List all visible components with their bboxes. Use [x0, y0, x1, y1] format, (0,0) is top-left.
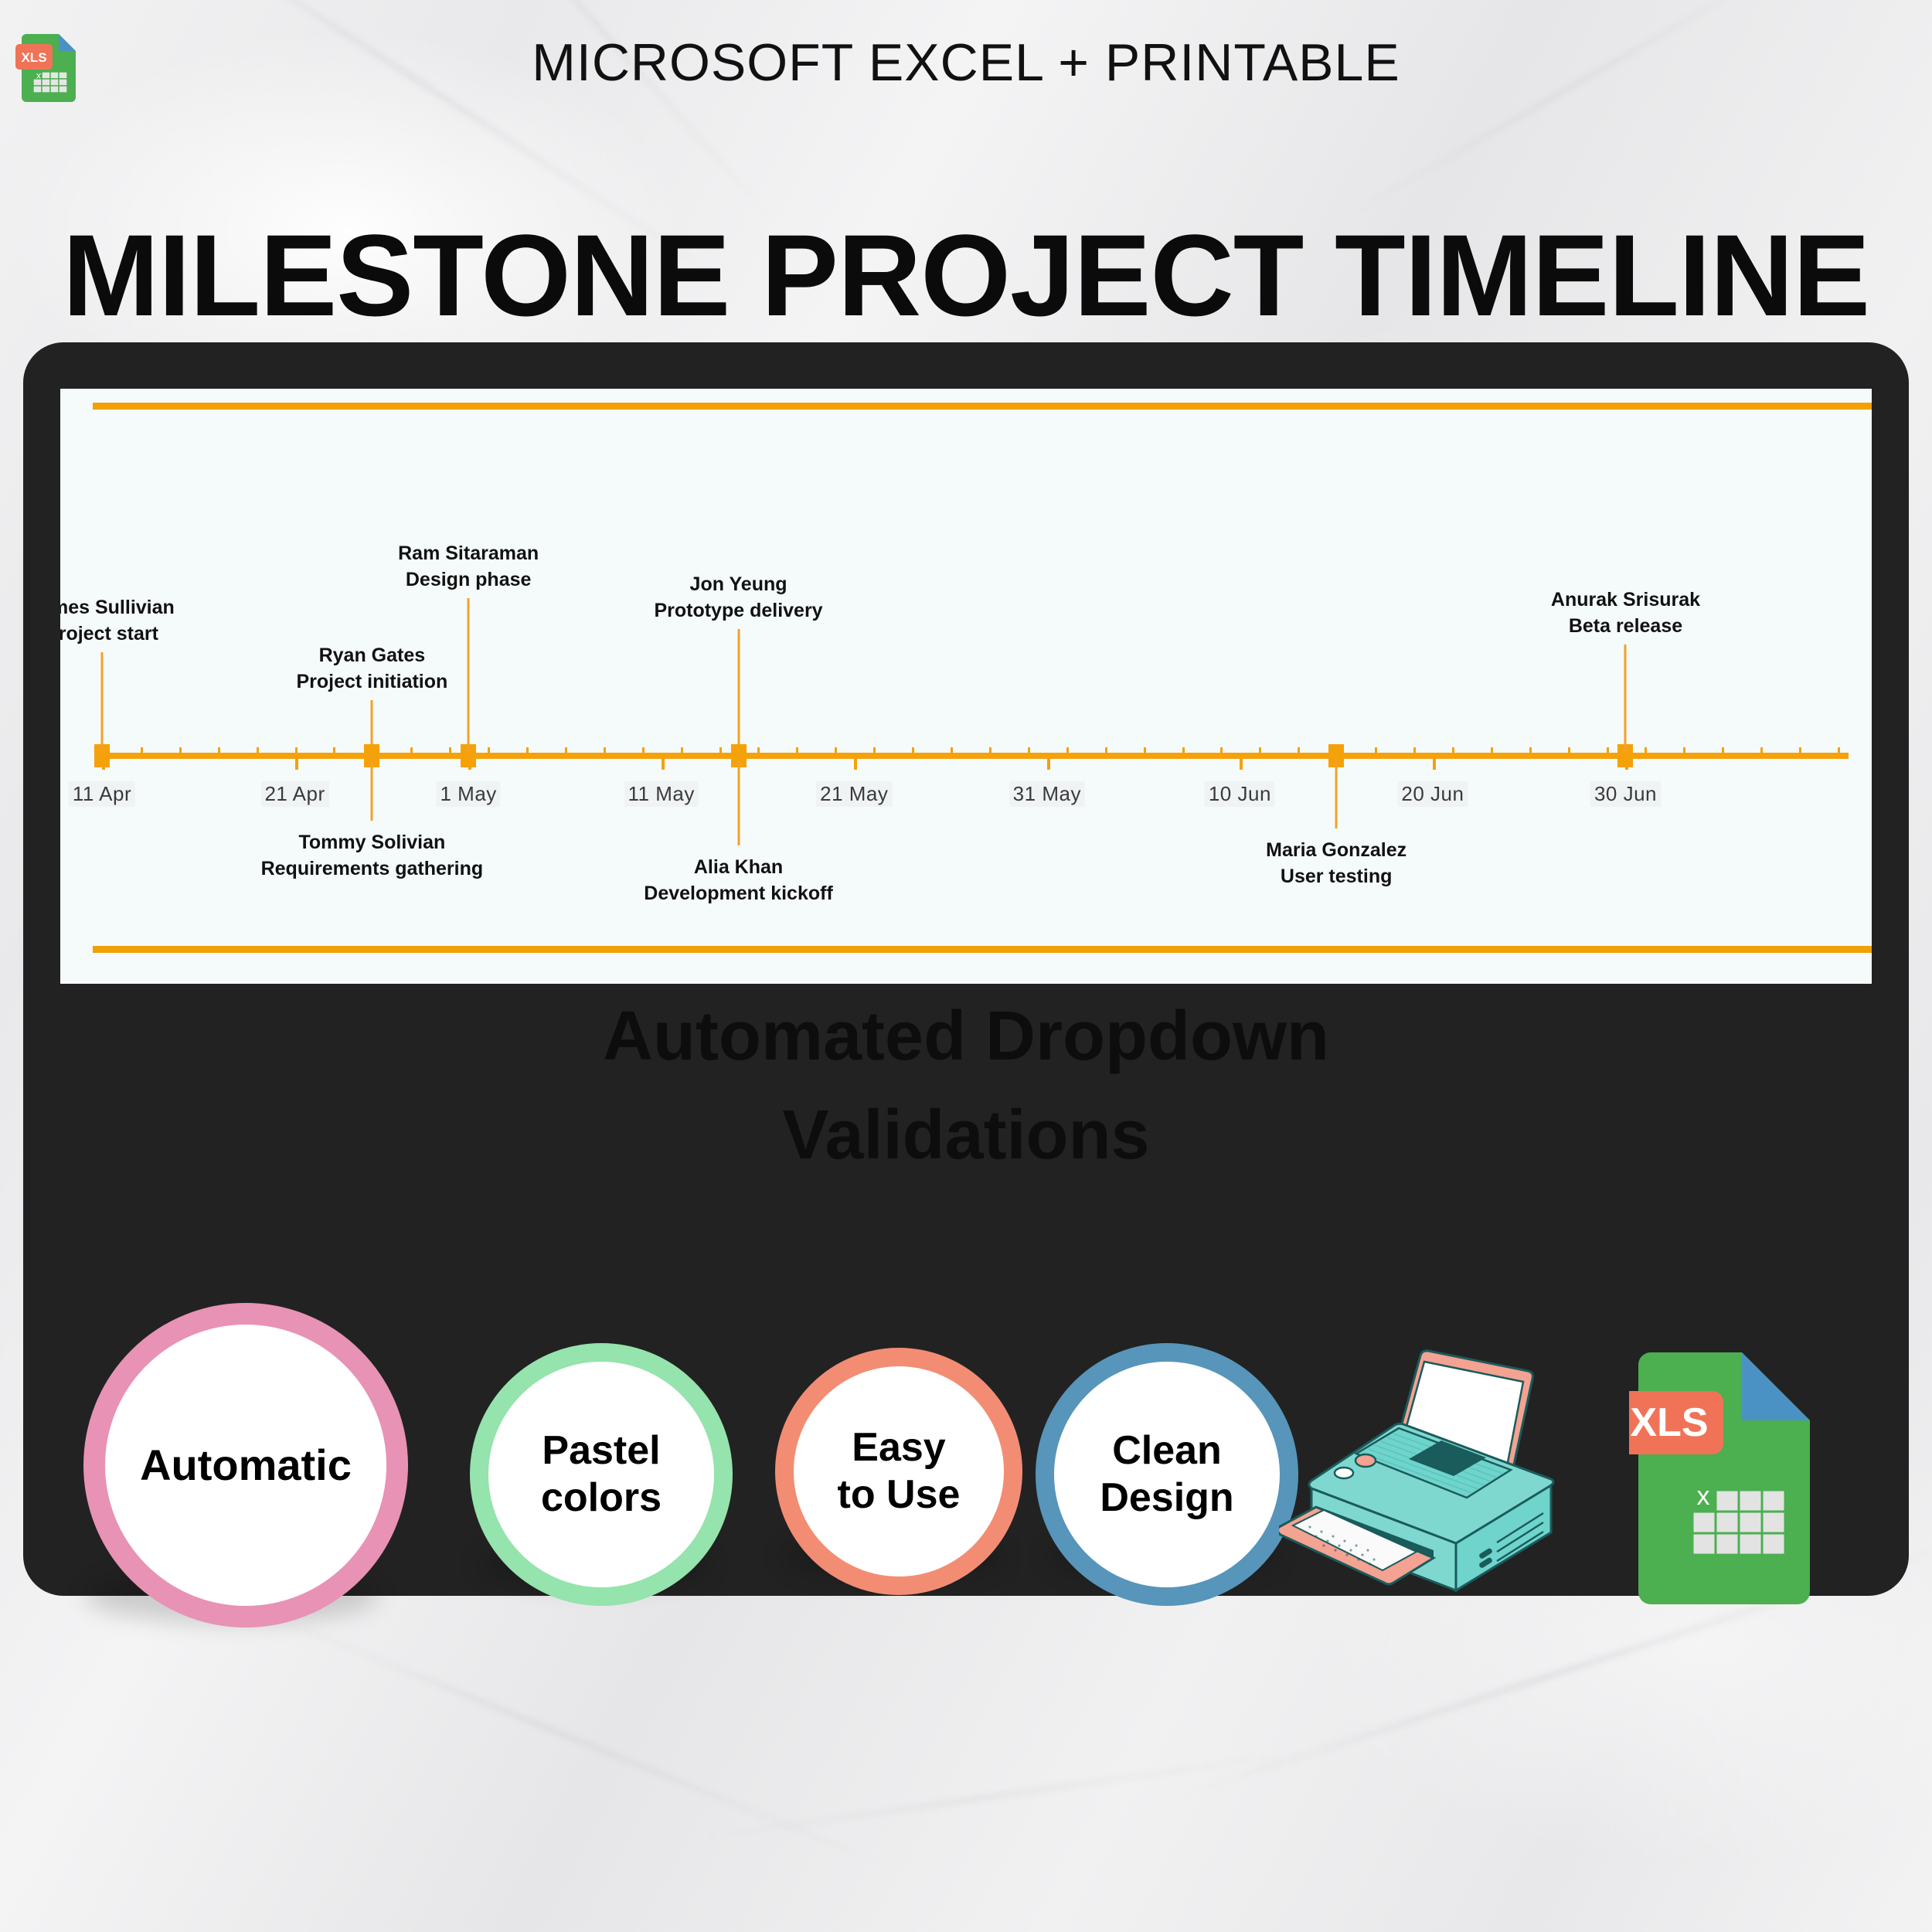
axis-tick	[1838, 747, 1840, 754]
axis-tick-major	[1433, 753, 1436, 770]
subtitle: Automated Dropdown Validations	[0, 988, 1932, 1185]
milestone-task: Prototype delivery	[654, 598, 822, 624]
milestone-stem	[737, 629, 740, 753]
axis-date-label: 30 Jun	[1590, 781, 1661, 807]
milestone-task: User testing	[1266, 864, 1406, 890]
milestone-task: Project start	[60, 621, 175, 648]
milestone-stem	[1335, 759, 1338, 828]
axis-tick	[1298, 747, 1300, 754]
xls-badge-text: XLS	[1630, 1400, 1708, 1445]
axis-tick	[1722, 747, 1724, 754]
axis-date-label: 31 May	[1009, 781, 1085, 807]
axis-tick	[218, 747, 220, 754]
axis-tick	[757, 747, 760, 754]
axis-tick	[179, 747, 182, 754]
axis-tick	[796, 747, 798, 754]
milestone-person: Anurak Srisurak	[1551, 587, 1700, 614]
milestone-label: Alia KhanDevelopment kickoff	[644, 855, 833, 906]
milestone-person: Ryan Gates	[296, 643, 447, 669]
axis-date-label: 1 May	[436, 781, 500, 807]
axis-date-label: 20 Jun	[1397, 781, 1468, 807]
milestone-task: Development kickoff	[644, 881, 833, 907]
milestone-stem	[737, 759, 740, 845]
header-kicker: MICROSOFT EXCEL + PRINTABLE	[0, 32, 1932, 93]
xls-sheet-letter: x	[1697, 1481, 1710, 1511]
feature-badge-easy-to-use[interactable]: Easy to Use	[775, 1348, 1022, 1595]
feature-label: to Use	[838, 1471, 961, 1519]
axis-tick-major	[854, 753, 857, 770]
milestone-person: Tommy Solivian	[261, 830, 484, 856]
axis-tick	[1683, 747, 1685, 754]
milestone-stem	[371, 759, 373, 821]
feature-label: Clean	[1112, 1427, 1222, 1475]
milestone-person: Jon Yeung	[654, 572, 822, 598]
axis-tick	[989, 747, 992, 754]
timeline-axis	[99, 753, 1849, 759]
axis-tick	[835, 747, 837, 754]
axis-tick	[1375, 747, 1377, 754]
axis-date-label: 21 Apr	[260, 781, 328, 807]
axis-tick	[1645, 747, 1647, 754]
axis-tick	[141, 747, 143, 754]
axis-date-label: 11 May	[624, 781, 699, 807]
axis-tick	[1220, 747, 1223, 754]
axis-tick	[1607, 747, 1609, 754]
axis-tick	[1182, 747, 1185, 754]
milestone-person: James Sullivian	[60, 595, 175, 621]
axis-tick	[449, 747, 451, 754]
milestone-task: Requirements gathering	[261, 856, 484, 883]
axis-tick	[1066, 747, 1069, 754]
milestone-person: Alia Khan	[644, 855, 833, 881]
feature-label: Easy	[852, 1424, 945, 1471]
milestone-label: Ryan GatesProject initiation	[296, 643, 447, 695]
axis-date-label: 11 Apr	[69, 781, 135, 807]
axis-tick	[488, 747, 490, 754]
milestone-task: Design phase	[398, 567, 539, 594]
axis-tick	[1491, 747, 1493, 754]
axis-tick	[1799, 747, 1801, 754]
axis-tick	[642, 747, 645, 754]
marble-vein	[257, 1609, 903, 1874]
chart-top-rule	[93, 403, 1872, 410]
axis-tick	[1028, 747, 1030, 754]
axis-tick-major	[1047, 753, 1050, 770]
milestone-stem	[1624, 645, 1627, 753]
subtitle-line-2: Validations	[0, 1087, 1932, 1185]
axis-tick	[1144, 747, 1146, 754]
axis-tick	[1568, 747, 1570, 754]
feature-label: colors	[541, 1475, 662, 1522]
axis-tick	[912, 747, 914, 754]
milestone-label: Ram SitaramanDesign phase	[398, 541, 539, 593]
milestone-label: Tommy SolivianRequirements gathering	[261, 830, 484, 882]
axis-tick	[681, 747, 683, 754]
axis-tick	[719, 747, 722, 754]
feature-label: Design	[1100, 1475, 1233, 1522]
feature-badge-clean-design[interactable]: Clean Design	[1036, 1343, 1298, 1606]
axis-tick	[257, 747, 259, 754]
milestone-stem	[101, 652, 104, 753]
page-title: MILESTONE PROJECT TIMELINE	[0, 209, 1932, 342]
axis-tick	[1529, 747, 1532, 754]
axis-tick	[1259, 747, 1261, 754]
axis-tick	[873, 747, 876, 754]
axis-tick	[410, 747, 413, 754]
axis-tick	[1105, 747, 1107, 754]
milestone-stem	[468, 598, 470, 753]
milestone-label: Jon YeungPrototype delivery	[654, 572, 822, 624]
axis-tick-major	[1240, 753, 1243, 770]
axis-tick	[1760, 747, 1763, 754]
tablet-screen: 11 Apr21 Apr1 May11 May21 May31 May10 Ju…	[60, 389, 1872, 984]
milestone-label: Maria GonzalezUser testing	[1266, 838, 1406, 889]
feature-label: Pastel	[542, 1427, 660, 1475]
axis-tick	[565, 747, 567, 754]
marble-vein	[699, 1750, 1311, 1839]
axis-tick	[951, 747, 953, 754]
axis-tick	[1413, 747, 1416, 754]
milestone-task: Project initiation	[296, 669, 447, 696]
milestone-task: Beta release	[1551, 614, 1700, 640]
axis-tick	[604, 747, 606, 754]
feature-badge-automatic[interactable]: Automatic	[83, 1303, 408, 1628]
milestone-person: Maria Gonzalez	[1266, 838, 1406, 864]
subtitle-line-1: Automated Dropdown	[0, 988, 1932, 1087]
axis-tick-major	[295, 753, 298, 770]
axis-tick	[526, 747, 529, 754]
axis-tick	[1452, 747, 1454, 754]
axis-date-label: 21 May	[816, 781, 892, 807]
axis-date-label: 10 Jun	[1205, 781, 1275, 807]
feature-label: Automatic	[140, 1440, 352, 1491]
xls-file-icon: XLS x	[1629, 1346, 1853, 1611]
feature-badge-pastel-colors[interactable]: Pastel colors	[470, 1343, 733, 1606]
axis-tick	[333, 747, 335, 754]
chart-bottom-rule	[93, 946, 1872, 953]
milestone-timeline-chart: 11 Apr21 Apr1 May11 May21 May31 May10 Ju…	[60, 389, 1872, 984]
axis-tick-major	[662, 753, 665, 770]
milestone-label: Anurak SrisurakBeta release	[1551, 587, 1700, 639]
printer-icon	[1279, 1328, 1611, 1621]
milestone-person: Ram Sitaraman	[398, 541, 539, 567]
milestone-label: James SullivianProject start	[60, 595, 175, 647]
